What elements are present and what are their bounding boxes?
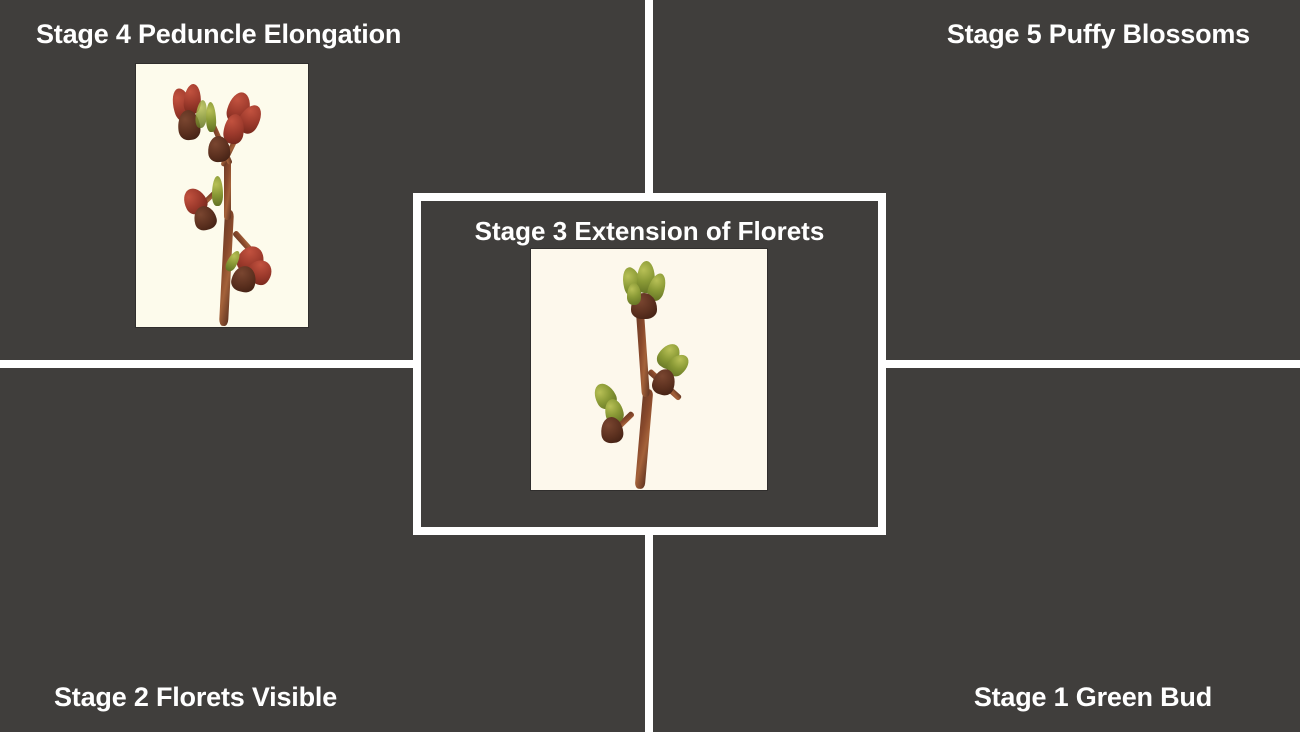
photo-stage-3[interactable] [531, 249, 767, 490]
panel-title-stage-1: Stage 1 Green Bud [974, 684, 1212, 711]
stage-4-artwork [136, 64, 308, 327]
bud-stage-board: Stage 4 Peduncle Elongation [0, 0, 1300, 732]
photo-stage-4[interactable] [136, 64, 308, 327]
panel-title-stage-2: Stage 2 Florets Visible [54, 684, 337, 711]
panel-title-stage-4: Stage 4 Peduncle Elongation [36, 21, 401, 48]
stage-3-artwork [531, 249, 767, 490]
panel-title-stage-5: Stage 5 Puffy Blossoms [947, 21, 1250, 48]
panel-title-stage-3: Stage 3 Extension of Florets [421, 218, 878, 244]
